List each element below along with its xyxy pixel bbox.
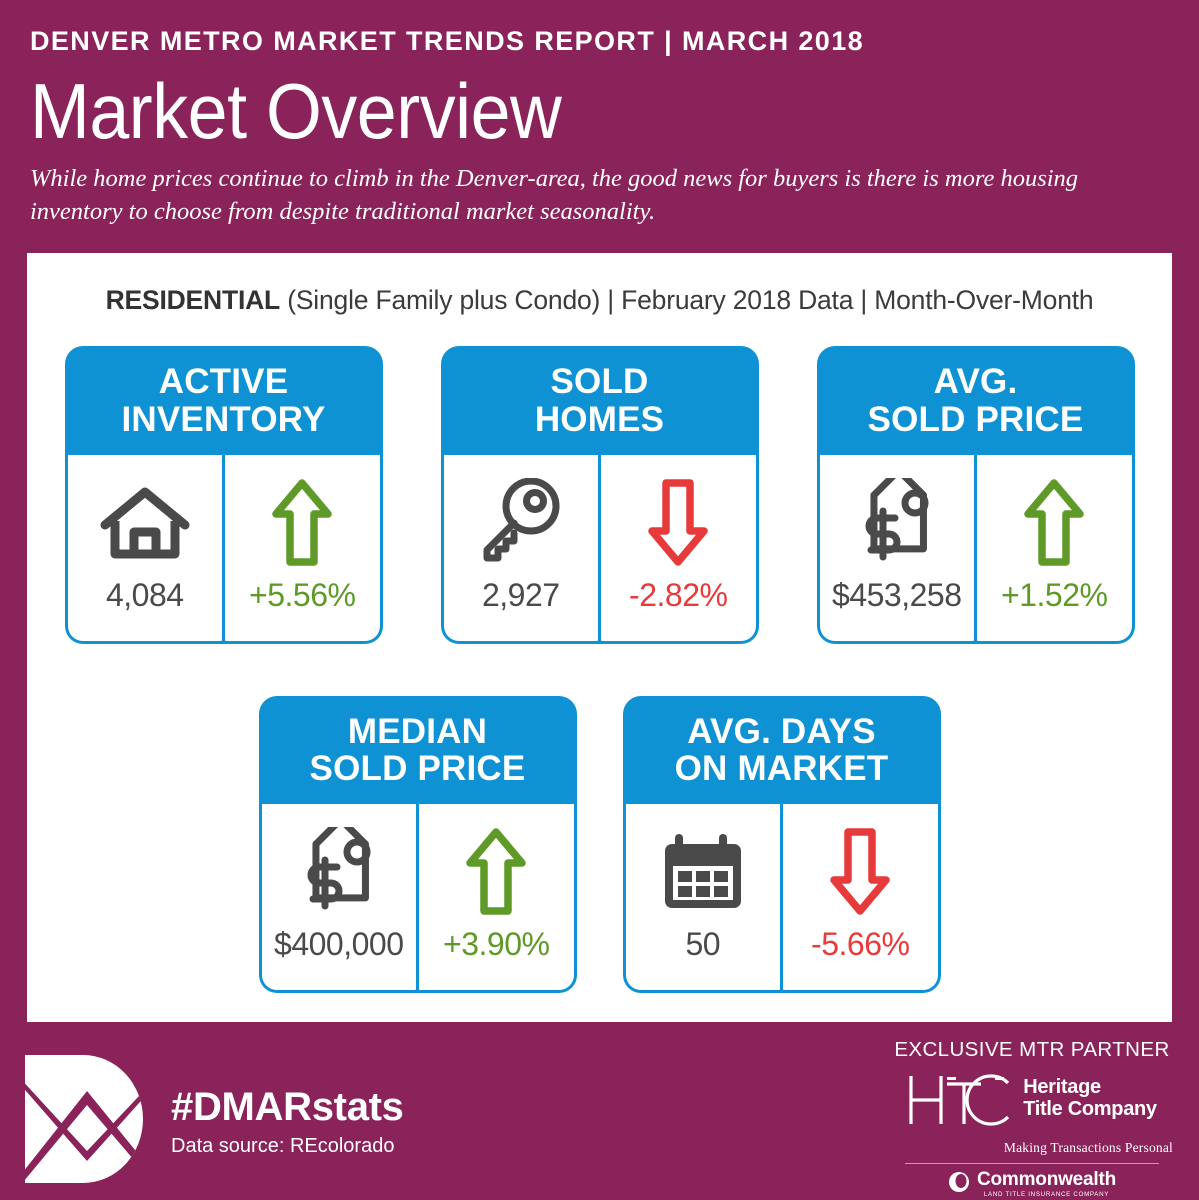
card-title-line1: AVG. DAYS bbox=[632, 713, 932, 751]
page-title: Market Overview bbox=[30, 73, 1078, 149]
commonwealth-logo: Commonwealth LAND TITLE INSURANCE COMPAN… bbox=[887, 1170, 1177, 1198]
footer-right: EXCLUSIVE MTR PARTNER Heritage Title Com… bbox=[887, 1038, 1177, 1198]
card-value-cell: $400,000 bbox=[262, 804, 417, 990]
card-value: $453,258 bbox=[832, 577, 961, 614]
card-change: +1.52% bbox=[1001, 577, 1107, 614]
card-row-bottom: MEDIAN SOLD PRICE bbox=[27, 696, 1172, 994]
hashtag: #DMARstats bbox=[171, 1085, 404, 1129]
card-title-line2: SOLD PRICE bbox=[826, 401, 1126, 439]
card-change-cell: +5.56% bbox=[225, 455, 380, 641]
price-tag-dollar-icon bbox=[293, 818, 385, 926]
card-body: 4,084 +5.56% bbox=[68, 455, 380, 641]
card-title: MEDIAN SOLD PRICE bbox=[262, 699, 574, 805]
card-title-line2: INVENTORY bbox=[74, 401, 374, 439]
commonwealth-name: Commonwealth bbox=[977, 1170, 1116, 1189]
stat-card-active-inventory[interactable]: ACTIVE INVENTORY 4,084 bbox=[65, 346, 383, 644]
card-value-cell: $453,258 bbox=[820, 455, 975, 641]
arrow-down-icon bbox=[648, 469, 708, 577]
card-value-cell: 2,927 bbox=[444, 455, 599, 641]
arrow-up-icon bbox=[1024, 469, 1084, 577]
panel-heading: RESIDENTIAL (Single Family plus Condo) |… bbox=[27, 253, 1172, 316]
htc-name-line1: Heritage bbox=[1023, 1077, 1157, 1099]
dmar-logo bbox=[25, 1055, 145, 1188]
report-header: DENVER METRO MARKET TRENDS REPORT | MARC… bbox=[0, 0, 1199, 228]
arrow-down-icon bbox=[830, 818, 890, 926]
htc-tagline: Making Transactions Personal bbox=[887, 1140, 1177, 1156]
key-icon bbox=[478, 469, 564, 577]
card-title-line1: MEDIAN bbox=[268, 713, 568, 751]
card-value-cell: 4,084 bbox=[68, 455, 223, 641]
card-change-cell: +1.52% bbox=[977, 455, 1132, 641]
card-title: AVG. DAYS ON MARKET bbox=[626, 699, 938, 805]
card-value: 50 bbox=[685, 926, 720, 963]
card-title-line2: SOLD PRICE bbox=[268, 750, 568, 788]
commonwealth-mark-icon bbox=[948, 1171, 970, 1198]
card-body: 50 -5.66% bbox=[626, 804, 938, 990]
panel-heading-rest: (Single Family plus Condo) | February 20… bbox=[280, 285, 1093, 315]
card-value-cell: 50 bbox=[626, 804, 781, 990]
card-value: 2,927 bbox=[482, 577, 560, 614]
card-body: $453,258 +1.52% bbox=[820, 455, 1132, 641]
data-source-label: Data source: REcolorado bbox=[171, 1135, 404, 1158]
card-title-line2: ON MARKET bbox=[632, 750, 932, 788]
dmar-text-block: #DMARstats Data source: REcolorado bbox=[171, 1085, 404, 1158]
htc-logo: Heritage Title Company bbox=[887, 1070, 1177, 1135]
footer-divider bbox=[905, 1163, 1159, 1164]
commonwealth-sub: LAND TITLE INSURANCE COMPANY bbox=[977, 1191, 1116, 1198]
footer-left: #DMARstats Data source: REcolorado bbox=[25, 1055, 404, 1188]
stats-panel: RESIDENTIAL (Single Family plus Condo) |… bbox=[27, 253, 1172, 1022]
card-body: 2,927 -2.82% bbox=[444, 455, 756, 641]
htc-name-line2: Title Company bbox=[1023, 1099, 1157, 1121]
report-eyebrow: DENVER METRO MARKET TRENDS REPORT | MARC… bbox=[30, 26, 1169, 57]
card-title-line1: SOLD bbox=[450, 363, 750, 401]
calendar-icon bbox=[657, 818, 749, 926]
stat-card-sold-homes[interactable]: SOLD HOMES 2,927 bbox=[441, 346, 759, 644]
card-title: SOLD HOMES bbox=[444, 349, 756, 455]
card-change: -2.82% bbox=[629, 577, 727, 614]
card-row-top: ACTIVE INVENTORY 4,084 bbox=[27, 346, 1172, 644]
card-title-line1: ACTIVE bbox=[74, 363, 374, 401]
card-change: -5.66% bbox=[811, 926, 909, 963]
card-body: $400,000 +3.90% bbox=[262, 804, 574, 990]
header-subtitle: While home prices continue to climb in t… bbox=[30, 163, 1160, 228]
arrow-up-icon bbox=[272, 469, 332, 577]
stat-card-avg-days-on-market[interactable]: AVG. DAYS ON MARKET bbox=[623, 696, 941, 994]
stat-card-avg-sold-price[interactable]: AVG. SOLD PRICE bbox=[817, 346, 1135, 644]
card-change-cell: -2.82% bbox=[601, 455, 756, 641]
card-title-line2: HOMES bbox=[450, 401, 750, 439]
commonwealth-wordmark: Commonwealth LAND TITLE INSURANCE COMPAN… bbox=[977, 1170, 1116, 1198]
card-value: $400,000 bbox=[274, 926, 403, 963]
htc-monogram-icon bbox=[907, 1070, 1013, 1135]
card-value: 4,084 bbox=[106, 577, 184, 614]
arrow-up-icon bbox=[466, 818, 526, 926]
card-title-line1: AVG. bbox=[826, 363, 1126, 401]
card-title: ACTIVE INVENTORY bbox=[68, 349, 380, 455]
htc-wordmark: Heritage Title Company bbox=[1023, 1070, 1157, 1120]
card-change: +3.90% bbox=[443, 926, 549, 963]
card-change: +5.56% bbox=[249, 577, 355, 614]
partner-label: EXCLUSIVE MTR PARTNER bbox=[887, 1038, 1177, 1062]
panel-heading-strong: RESIDENTIAL bbox=[106, 285, 280, 315]
stat-card-median-sold-price[interactable]: MEDIAN SOLD PRICE bbox=[259, 696, 577, 994]
house-icon bbox=[99, 469, 191, 577]
price-tag-dollar-icon bbox=[851, 469, 943, 577]
card-change-cell: +3.90% bbox=[419, 804, 574, 990]
card-change-cell: -5.66% bbox=[783, 804, 938, 990]
card-title: AVG. SOLD PRICE bbox=[820, 349, 1132, 455]
